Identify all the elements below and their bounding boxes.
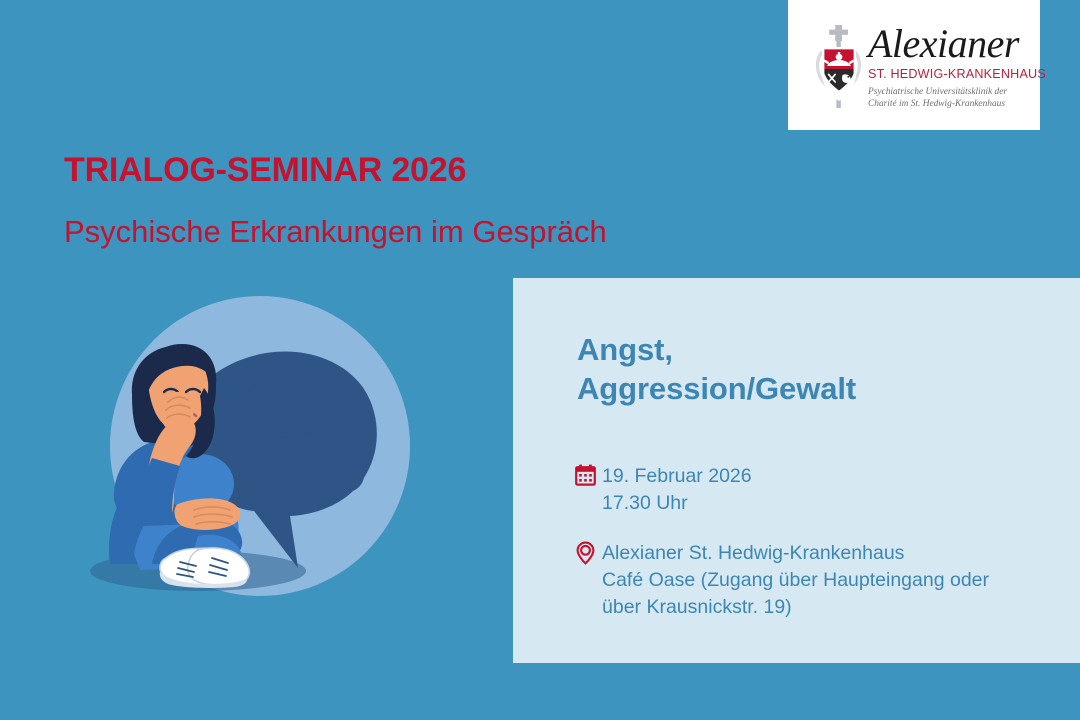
logo-subwordmark: ST. HEDWIG-KRANKENHAUS bbox=[868, 67, 1030, 82]
event-venue-row: Alexianer St. Hedwig-Krankenhaus Café Oa… bbox=[575, 540, 989, 621]
event-date-row: 19. Februar 2026 17.30 Uhr bbox=[575, 463, 752, 517]
illustration-woman-tangled-thoughts bbox=[48, 296, 468, 626]
logo-tagline-line1: Psychiatrische Universitätsklinik der bbox=[868, 87, 1030, 99]
event-venue-line2: Café Oase (Zugang über Haupteingang oder bbox=[602, 567, 989, 594]
headline-block: TRIALOG-SEMINAR 2026 Psychische Erkranku… bbox=[64, 150, 784, 251]
event-date-line2: 17.30 Uhr bbox=[602, 490, 752, 517]
alexianer-logo: Alexianer ST. HEDWIG-KRANKENHAUS Psychia… bbox=[788, 0, 1040, 130]
event-venue-text: Alexianer St. Hedwig-Krankenhaus Café Oa… bbox=[602, 540, 989, 621]
panel-heading-line2: Aggression/Gewalt bbox=[577, 369, 856, 408]
poster-canvas: Angst, Aggression/Gewalt bbox=[0, 0, 1080, 720]
event-venue-line1: Alexianer St. Hedwig-Krankenhaus bbox=[602, 540, 989, 567]
location-pin-icon bbox=[575, 541, 596, 564]
event-date-line1: 19. Februar 2026 bbox=[602, 463, 752, 490]
page-subtitle: Psychische Erkrankungen im Gespräch bbox=[64, 213, 784, 251]
event-info-panel: Angst, Aggression/Gewalt bbox=[513, 278, 1080, 663]
page-title: TRIALOG-SEMINAR 2026 bbox=[64, 150, 784, 190]
coat-of-arms-icon bbox=[810, 24, 868, 110]
calendar-icon bbox=[575, 464, 596, 487]
logo-wordmark: Alexianer bbox=[868, 22, 1030, 66]
logo-tagline-line2: Charité im St. Hedwig-Krankenhaus bbox=[868, 99, 1030, 111]
logo-tagline: Psychiatrische Universitätsklinik der Ch… bbox=[868, 87, 1030, 110]
event-venue-line3: über Krausnickstr. 19) bbox=[602, 594, 989, 621]
panel-heading-line1: Angst, bbox=[577, 330, 856, 369]
logo-inner: Alexianer ST. HEDWIG-KRANKENHAUS Psychia… bbox=[802, 22, 1030, 122]
panel-heading: Angst, Aggression/Gewalt bbox=[577, 330, 856, 408]
event-date-text: 19. Februar 2026 17.30 Uhr bbox=[602, 463, 752, 517]
wordmark-block: Alexianer ST. HEDWIG-KRANKENHAUS Psychia… bbox=[868, 22, 1030, 110]
